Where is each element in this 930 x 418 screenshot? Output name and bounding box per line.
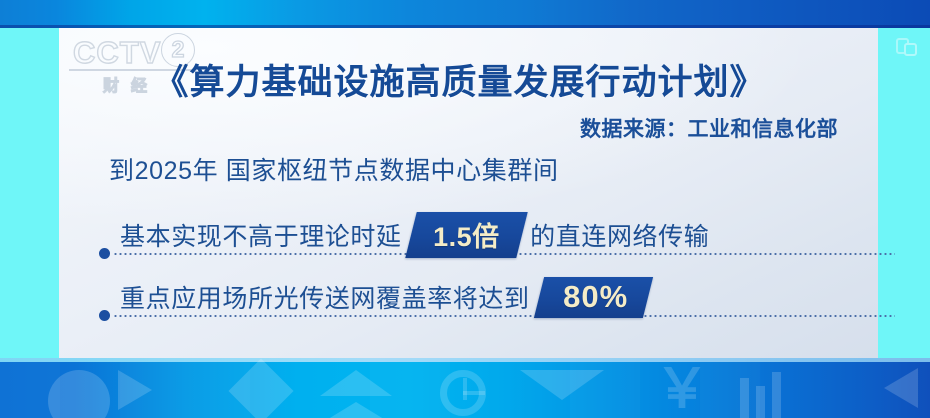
title-block: 《算力基础设施高质量发展行动计划》 数据来源：工业和信息化部 [59,54,860,143]
screen-share-icon [894,33,920,59]
bullet-2-prefix: 重点应用场所光传送网覆盖率将达到 [120,279,530,315]
chevron-left-icon [884,368,918,408]
pie-chart-slice [463,391,485,395]
bullet-dot-icon [99,248,110,259]
chevron-right-icon [118,370,152,410]
bullet-dot-icon [99,310,110,321]
left-cyan-border [0,28,59,358]
bullet-item-1: 基本实现不高于理论时延 1.5倍 的直连网络传输 [99,212,859,274]
bullet-content-2: 重点应用场所光传送网覆盖率将达到 80% [120,274,657,320]
bullet-1-badge-value: 1.5倍 [433,215,500,254]
bullet-2-highlight-badge: 80% [533,277,652,318]
circle-shape [48,370,110,418]
top-accent-strip [0,0,930,28]
bar-chart-bar [740,378,749,418]
bullet-1-highlight-badge: 1.5倍 [405,212,527,258]
bottom-decor-band: ￥ [0,358,930,418]
bar-chart-bar [756,386,765,418]
page-title: 《算力基础设施高质量发展行动计划》 [59,54,860,105]
bullet-list: 基本实现不高于理论时延 1.5倍 的直连网络传输 重点应用场所光传送网覆盖率将达… [99,212,859,336]
bullet-1-prefix: 基本实现不高于理论时延 [120,217,402,253]
bullet-2-badge-value: 80% [563,279,628,315]
triangle-up-icon [320,370,392,396]
bar-chart-bar [772,372,781,418]
bullet-1-suffix: 的直连网络传输 [530,217,709,253]
chevron-down-icon [520,370,604,400]
content-panel: CCTV 2 财经 《算力基础设施高质量发展行动计划》 数据来源：工业和信息化部… [59,28,878,358]
broadcast-frame: CCTV 2 财经 《算力基础设施高质量发展行动计划》 数据来源：工业和信息化部… [0,0,930,418]
yen-symbol-icon: ￥ [655,362,709,416]
pie-chart-slice [463,378,467,400]
triangle-up-icon [320,402,392,418]
data-source-label: 数据来源：工业和信息化部 [59,113,860,143]
lead-statement: 到2025年 国家枢纽节点数据中心集群间 [109,151,559,187]
bullet-item-2: 重点应用场所光传送网覆盖率将达到 80% [99,274,859,336]
right-cyan-border [878,28,930,358]
bullet-content-1: 基本实现不高于理论时延 1.5倍 的直连网络传输 [120,212,709,258]
